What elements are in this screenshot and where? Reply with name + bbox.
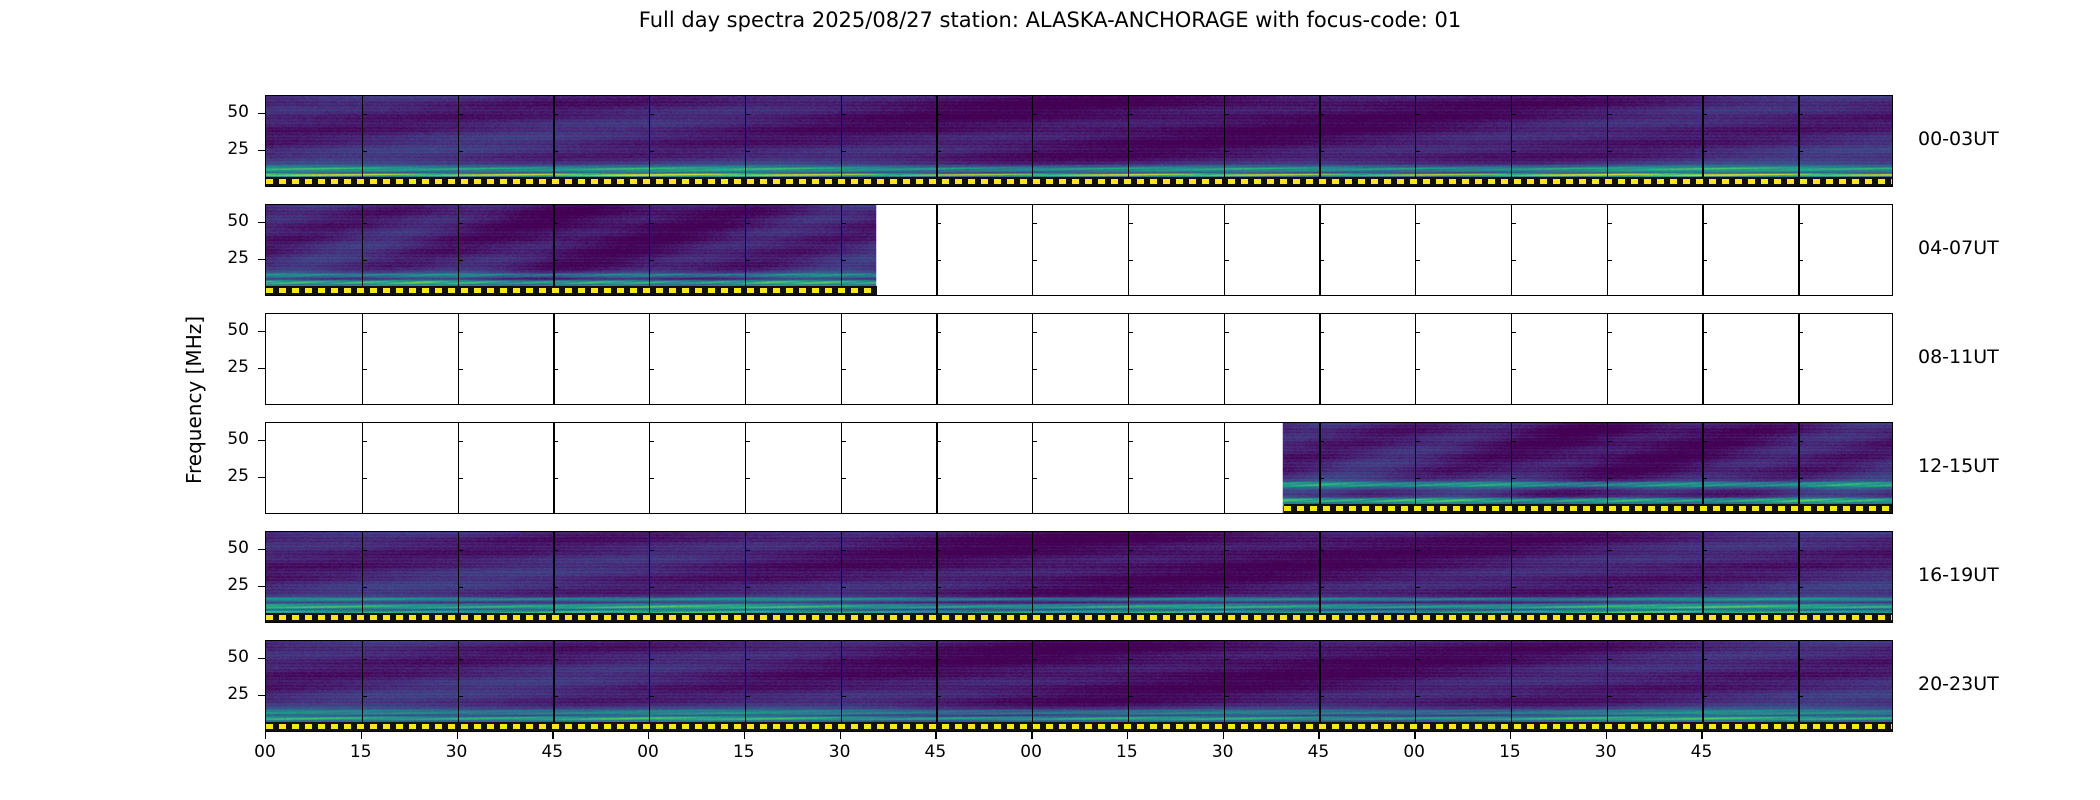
inner-y-tick: [841, 223, 846, 224]
subpanel-divider: [1607, 423, 1608, 513]
inner-y-tick: [1702, 223, 1707, 224]
inner-y-tick: [745, 478, 750, 479]
subpanel-divider: [745, 96, 746, 186]
y-tick-mark: [258, 658, 265, 659]
inner-y-tick: [649, 587, 654, 588]
inner-y-tick: [936, 260, 941, 261]
subpanel-divider: [745, 205, 746, 295]
y-tick-label: 50: [191, 429, 249, 449]
inner-y-tick: [1607, 260, 1612, 261]
inner-y-tick: [1224, 587, 1229, 588]
y-tick-label: 25: [191, 684, 249, 704]
row-label-16-19ut: 16-19UT: [1918, 564, 1999, 586]
y-tick-mark: [258, 113, 265, 114]
inner-y-tick: [1415, 550, 1420, 551]
x-tick-label: 45: [532, 742, 572, 762]
subpanel-divider: [1128, 641, 1129, 731]
subpanel-divider: [553, 423, 554, 513]
inner-y-tick: [1702, 441, 1707, 442]
inner-y-tick: [1511, 696, 1516, 697]
y-tick-label: 50: [191, 320, 249, 340]
inner-y-tick: [649, 332, 654, 333]
row-label-00-03ut: 00-03UT: [1918, 128, 1999, 150]
inner-y-tick: [458, 332, 463, 333]
x-tick-mark: [1701, 732, 1702, 739]
subpanel-divider: [1798, 314, 1799, 404]
inner-y-tick: [1415, 478, 1420, 479]
inner-y-tick: [1702, 369, 1707, 370]
x-tick-label: 30: [437, 742, 477, 762]
y-tick-label: 50: [191, 538, 249, 558]
x-tick-mark: [1510, 732, 1511, 739]
inner-y-tick: [458, 441, 463, 442]
inner-y-tick: [745, 332, 750, 333]
inner-y-tick: [1032, 369, 1037, 370]
inner-y-tick: [649, 441, 654, 442]
inner-y-tick: [553, 696, 558, 697]
inner-y-tick: [1224, 478, 1229, 479]
subpanel-divider: [1224, 205, 1225, 295]
inner-y-tick: [1511, 587, 1516, 588]
x-tick-mark: [648, 732, 649, 739]
spectrogram-canvas: [266, 532, 1892, 622]
inner-y-tick: [1798, 332, 1803, 333]
subpanel-divider: [745, 641, 746, 731]
inner-y-tick: [936, 441, 941, 442]
x-tick-mark: [744, 732, 745, 739]
inner-y-tick: [1415, 369, 1420, 370]
subpanel-divider: [458, 423, 459, 513]
inner-y-tick: [362, 332, 367, 333]
inner-y-tick: [1032, 478, 1037, 479]
subpanel-divider: [1702, 314, 1703, 404]
inner-y-tick: [841, 369, 846, 370]
inner-y-tick: [1702, 478, 1707, 479]
y-tick-label: 25: [191, 248, 249, 268]
x-tick-mark: [1318, 732, 1319, 739]
subpanel-divider: [553, 532, 554, 622]
inner-y-tick: [1032, 550, 1037, 551]
subpanel-divider: [1319, 96, 1320, 186]
inner-y-tick: [1224, 332, 1229, 333]
y-tick-label: 50: [191, 102, 249, 122]
focus-code-strip: [1284, 504, 1893, 513]
inner-y-tick: [745, 659, 750, 660]
subpanel-divider: [1607, 532, 1608, 622]
spectrogram-row-20-23ut[interactable]: [265, 640, 1893, 732]
inner-y-tick: [745, 696, 750, 697]
inner-y-tick: [1128, 369, 1133, 370]
inner-y-tick: [1319, 332, 1324, 333]
subpanel-divider: [841, 641, 842, 731]
inner-y-tick: [1224, 151, 1229, 152]
inner-y-tick: [841, 587, 846, 588]
spectrogram-figure: Full day spectra 2025/08/27 station: ALA…: [0, 0, 2100, 800]
inner-y-tick: [1702, 151, 1707, 152]
inner-y-tick: [1511, 260, 1516, 261]
focus-code-strip: [266, 722, 1893, 731]
inner-y-tick: [1415, 114, 1420, 115]
inner-y-tick: [936, 550, 941, 551]
y-tick-label: 25: [191, 575, 249, 595]
y-tick-mark: [258, 331, 265, 332]
inner-y-tick: [1415, 151, 1420, 152]
x-tick-label: 00: [628, 742, 668, 762]
subpanel-divider: [362, 532, 363, 622]
spectrogram-row-04-07ut[interactable]: [265, 204, 1893, 296]
inner-y-tick: [1319, 369, 1324, 370]
x-tick-mark: [840, 732, 841, 739]
y-tick-mark: [258, 477, 265, 478]
inner-y-tick: [458, 659, 463, 660]
subpanel-divider: [841, 423, 842, 513]
figure-title: Full day spectra 2025/08/27 station: ALA…: [0, 8, 2100, 32]
subpanel-divider: [362, 641, 363, 731]
subpanel-divider: [1607, 205, 1608, 295]
x-tick-label: 15: [724, 742, 764, 762]
inner-y-tick: [553, 223, 558, 224]
inner-y-tick: [1224, 696, 1229, 697]
subpanel-divider: [1415, 423, 1416, 513]
spectrogram-canvas: [266, 641, 1892, 731]
y-tick-mark: [258, 259, 265, 260]
subpanel-divider: [1224, 96, 1225, 186]
subpanel-divider: [1224, 423, 1225, 513]
inner-y-tick: [1798, 478, 1803, 479]
subpanel-divider: [1128, 314, 1129, 404]
inner-y-tick: [1224, 441, 1229, 442]
subpanel-divider: [1224, 532, 1225, 622]
subpanel-divider: [1511, 314, 1512, 404]
subpanel-divider: [1128, 96, 1129, 186]
subpanel-divider: [936, 641, 937, 731]
inner-y-tick: [1032, 659, 1037, 660]
inner-y-tick: [1319, 587, 1324, 588]
subpanel-divider: [1224, 641, 1225, 731]
inner-y-tick: [1128, 587, 1133, 588]
x-tick-label: 15: [1107, 742, 1147, 762]
inner-y-tick: [1319, 478, 1324, 479]
inner-y-tick: [1032, 441, 1037, 442]
x-tick-mark: [552, 732, 553, 739]
inner-y-tick: [362, 587, 367, 588]
subpanel-divider: [1415, 96, 1416, 186]
inner-y-tick: [1798, 223, 1803, 224]
inner-y-tick: [553, 260, 558, 261]
spectrogram-row-08-11ut[interactable]: [265, 313, 1893, 405]
inner-y-tick: [841, 478, 846, 479]
inner-y-tick: [1319, 441, 1324, 442]
subpanel-divider: [745, 423, 746, 513]
x-tick-mark: [1031, 732, 1032, 739]
subpanel-divider: [458, 96, 459, 186]
subpanel-divider: [649, 423, 650, 513]
inner-y-tick: [936, 223, 941, 224]
inner-y-tick: [1032, 151, 1037, 152]
subpanel-divider: [1032, 423, 1033, 513]
subpanel-divider: [1511, 532, 1512, 622]
y-tick-label: 25: [191, 139, 249, 159]
y-tick-mark: [258, 549, 265, 550]
y-tick-label: 25: [191, 357, 249, 377]
focus-code-strip: [266, 613, 1893, 622]
subpanel-divider: [1511, 96, 1512, 186]
inner-y-tick: [553, 587, 558, 588]
inner-y-tick: [1319, 659, 1324, 660]
inner-y-tick: [1702, 659, 1707, 660]
focus-code-strip: [266, 177, 1893, 186]
subpanel-divider: [1511, 423, 1512, 513]
focus-code-strip: [266, 286, 877, 295]
inner-y-tick: [936, 369, 941, 370]
inner-y-tick: [1511, 659, 1516, 660]
inner-y-tick: [1702, 114, 1707, 115]
inner-y-tick: [1798, 260, 1803, 261]
inner-y-tick: [1607, 659, 1612, 660]
inner-y-tick: [1224, 550, 1229, 551]
x-tick-mark: [1127, 732, 1128, 739]
subpanel-divider: [649, 96, 650, 186]
inner-y-tick: [1128, 332, 1133, 333]
inner-y-tick: [553, 151, 558, 152]
subpanel-divider: [553, 314, 554, 404]
inner-y-tick: [1702, 587, 1707, 588]
subpanel-divider: [649, 314, 650, 404]
inner-y-tick: [1415, 223, 1420, 224]
inner-y-tick: [1319, 223, 1324, 224]
inner-y-tick: [1798, 114, 1803, 115]
inner-y-tick: [553, 369, 558, 370]
subpanel-divider: [936, 532, 937, 622]
spectrogram-row-12-15ut[interactable]: [265, 422, 1893, 514]
subpanel-divider: [1032, 641, 1033, 731]
inner-y-tick: [936, 151, 941, 152]
x-tick-label: 00: [1394, 742, 1434, 762]
y-tick-mark: [258, 150, 265, 151]
inner-y-tick: [1607, 441, 1612, 442]
inner-y-tick: [458, 223, 463, 224]
spectrogram-row-00-03ut[interactable]: [265, 95, 1893, 187]
inner-y-tick: [362, 659, 367, 660]
inner-y-tick: [458, 151, 463, 152]
subpanel-divider: [936, 314, 937, 404]
inner-y-tick: [1607, 550, 1612, 551]
inner-y-tick: [649, 151, 654, 152]
x-tick-mark: [1606, 732, 1607, 739]
inner-y-tick: [841, 114, 846, 115]
subpanel-divider: [1798, 423, 1799, 513]
subpanel-divider: [1319, 641, 1320, 731]
inner-y-tick: [553, 332, 558, 333]
subpanel-divider: [745, 314, 746, 404]
inner-y-tick: [1798, 550, 1803, 551]
inner-y-tick: [362, 114, 367, 115]
inner-y-tick: [649, 696, 654, 697]
inner-y-tick: [362, 696, 367, 697]
inner-y-tick: [362, 369, 367, 370]
x-tick-label: 15: [1490, 742, 1530, 762]
subpanel-divider: [841, 96, 842, 186]
subpanel-divider: [1415, 532, 1416, 622]
inner-y-tick: [1128, 441, 1133, 442]
inner-y-tick: [1607, 478, 1612, 479]
inner-y-tick: [458, 478, 463, 479]
x-tick-label: 45: [1681, 742, 1721, 762]
y-tick-mark: [258, 695, 265, 696]
x-tick-label: 30: [820, 742, 860, 762]
inner-y-tick: [553, 114, 558, 115]
inner-y-tick: [841, 441, 846, 442]
subpanel-divider: [1032, 96, 1033, 186]
inner-y-tick: [458, 260, 463, 261]
inner-y-tick: [841, 550, 846, 551]
subpanel-divider: [1607, 314, 1608, 404]
inner-y-tick: [1798, 369, 1803, 370]
subpanel-divider: [1798, 641, 1799, 731]
y-tick-mark: [258, 368, 265, 369]
inner-y-tick: [1607, 114, 1612, 115]
x-tick-mark: [1414, 732, 1415, 739]
inner-y-tick: [1511, 114, 1516, 115]
inner-y-tick: [1032, 332, 1037, 333]
subpanel-divider: [1798, 205, 1799, 295]
inner-y-tick: [1128, 696, 1133, 697]
inner-y-tick: [1511, 478, 1516, 479]
row-label-04-07ut: 04-07UT: [1918, 237, 1999, 259]
subpanel-divider: [1511, 641, 1512, 731]
inner-y-tick: [649, 550, 654, 551]
subpanel-divider: [1415, 205, 1416, 295]
inner-y-tick: [1415, 260, 1420, 261]
subpanel-divider: [1702, 96, 1703, 186]
subpanel-divider: [1702, 641, 1703, 731]
subpanel-divider: [1415, 641, 1416, 731]
x-tick-mark: [361, 732, 362, 739]
inner-y-tick: [1607, 587, 1612, 588]
subpanel-divider: [1607, 96, 1608, 186]
inner-y-tick: [1607, 369, 1612, 370]
inner-y-tick: [1032, 696, 1037, 697]
inner-y-tick: [1128, 223, 1133, 224]
inner-y-tick: [649, 478, 654, 479]
inner-y-tick: [1511, 332, 1516, 333]
y-tick-label: 50: [191, 647, 249, 667]
inner-y-tick: [1032, 223, 1037, 224]
subpanel-divider: [649, 205, 650, 295]
inner-y-tick: [1319, 114, 1324, 115]
inner-y-tick: [1798, 441, 1803, 442]
inner-y-tick: [1798, 659, 1803, 660]
y-tick-label: 25: [191, 466, 249, 486]
inner-y-tick: [841, 260, 846, 261]
subpanel-divider: [841, 314, 842, 404]
x-tick-label: 30: [1203, 742, 1243, 762]
inner-y-tick: [1319, 550, 1324, 551]
subpanel-divider: [1128, 205, 1129, 295]
x-tick-mark: [935, 732, 936, 739]
x-tick-label: 30: [1586, 742, 1626, 762]
inner-y-tick: [745, 369, 750, 370]
inner-y-tick: [362, 478, 367, 479]
subpanel-divider: [1319, 532, 1320, 622]
inner-y-tick: [362, 550, 367, 551]
subpanel-divider: [362, 314, 363, 404]
subpanel-divider: [1607, 641, 1608, 731]
inner-y-tick: [1319, 260, 1324, 261]
subpanel-divider: [936, 423, 937, 513]
subpanel-divider: [458, 532, 459, 622]
inner-y-tick: [745, 114, 750, 115]
inner-y-tick: [745, 587, 750, 588]
inner-y-tick: [841, 696, 846, 697]
inner-y-tick: [1798, 151, 1803, 152]
subpanel-divider: [841, 532, 842, 622]
subpanel-divider: [1702, 423, 1703, 513]
inner-y-tick: [1415, 332, 1420, 333]
subpanel-divider: [553, 205, 554, 295]
subpanel-divider: [1415, 314, 1416, 404]
inner-y-tick: [362, 151, 367, 152]
inner-y-tick: [1702, 550, 1707, 551]
spectrogram-row-16-19ut[interactable]: [265, 531, 1893, 623]
inner-y-tick: [362, 260, 367, 261]
subpanel-divider: [841, 205, 842, 295]
inner-y-tick: [458, 550, 463, 551]
subpanel-divider: [649, 532, 650, 622]
x-tick-label: 15: [341, 742, 381, 762]
subpanel-divider: [1224, 314, 1225, 404]
inner-y-tick: [1415, 441, 1420, 442]
inner-y-tick: [1415, 659, 1420, 660]
inner-y-tick: [745, 441, 750, 442]
inner-y-tick: [1224, 659, 1229, 660]
subpanel-divider: [649, 641, 650, 731]
inner-y-tick: [1319, 151, 1324, 152]
spectrogram-canvas: [266, 205, 1892, 295]
subpanel-divider: [362, 205, 363, 295]
inner-y-tick: [1224, 260, 1229, 261]
inner-y-tick: [745, 151, 750, 152]
inner-y-tick: [1702, 260, 1707, 261]
row-label-08-11ut: 08-11UT: [1918, 346, 1999, 368]
subpanel-divider: [1511, 205, 1512, 295]
inner-y-tick: [1607, 696, 1612, 697]
inner-y-tick: [1128, 114, 1133, 115]
subpanel-divider: [362, 423, 363, 513]
subpanel-divider: [1319, 205, 1320, 295]
inner-y-tick: [1607, 151, 1612, 152]
row-label-20-23ut: 20-23UT: [1918, 673, 1999, 695]
inner-y-tick: [362, 223, 367, 224]
inner-y-tick: [649, 114, 654, 115]
spectrogram-canvas: [266, 423, 1892, 513]
inner-y-tick: [1128, 659, 1133, 660]
subpanel-divider: [1032, 532, 1033, 622]
subpanel-divider: [1032, 205, 1033, 295]
inner-y-tick: [841, 332, 846, 333]
inner-y-tick: [1798, 587, 1803, 588]
inner-y-tick: [1224, 223, 1229, 224]
inner-y-tick: [1415, 587, 1420, 588]
inner-y-tick: [745, 550, 750, 551]
inner-y-tick: [936, 587, 941, 588]
subpanel-divider: [553, 96, 554, 186]
subpanel-divider: [1032, 314, 1033, 404]
y-tick-mark: [258, 586, 265, 587]
inner-y-tick: [649, 659, 654, 660]
inner-y-tick: [1702, 696, 1707, 697]
y-tick-mark: [258, 222, 265, 223]
